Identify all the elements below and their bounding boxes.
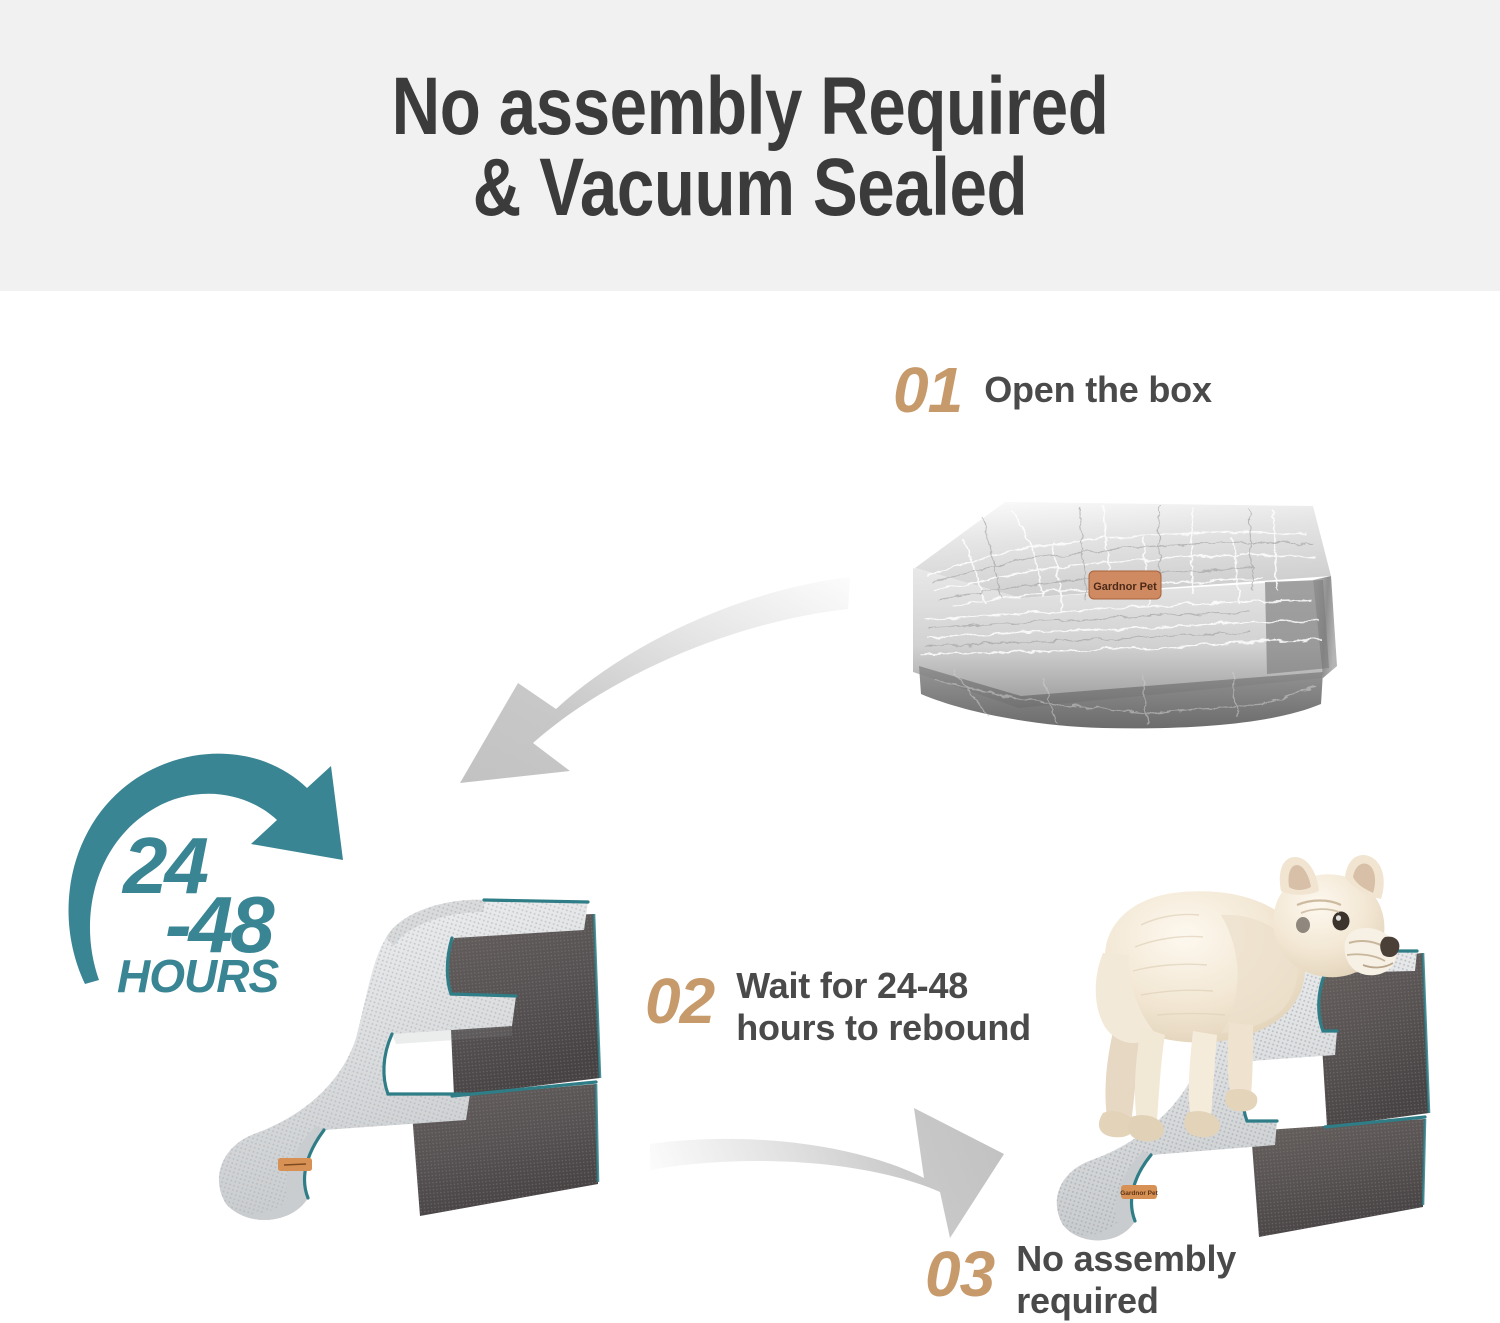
pet-stairs-with-dog: Gardnor Pet xyxy=(1045,855,1475,1260)
step-03-number: 03 xyxy=(925,1242,994,1306)
step-02-label: Wait for 24-48 hours to rebound xyxy=(736,965,1031,1049)
arrow-box-to-stairs xyxy=(420,575,850,785)
product-brand-tag: Gardnor Pet xyxy=(1120,1190,1158,1197)
pet-stairs-left xyxy=(196,868,616,1248)
step-02-number: 02 xyxy=(645,969,714,1033)
step-01: 01 Open the box xyxy=(893,358,1212,422)
step-01-label: Open the box xyxy=(984,369,1212,411)
step-03-label: No assembly required xyxy=(1016,1238,1236,1322)
arrow-stairs-to-dog xyxy=(648,1088,1008,1253)
step-03: 03 No assembly required xyxy=(925,1238,1236,1322)
step-02: 02 Wait for 24-48 hours to rebound xyxy=(645,965,1031,1049)
page-title: No assembly Required & Vacuum Sealed xyxy=(135,66,1365,228)
package-brand-label: Gardnor Pet xyxy=(1093,581,1157,593)
step-01-number: 01 xyxy=(893,358,962,422)
vacuum-sealed-package: Gardnor Pet xyxy=(893,480,1343,735)
